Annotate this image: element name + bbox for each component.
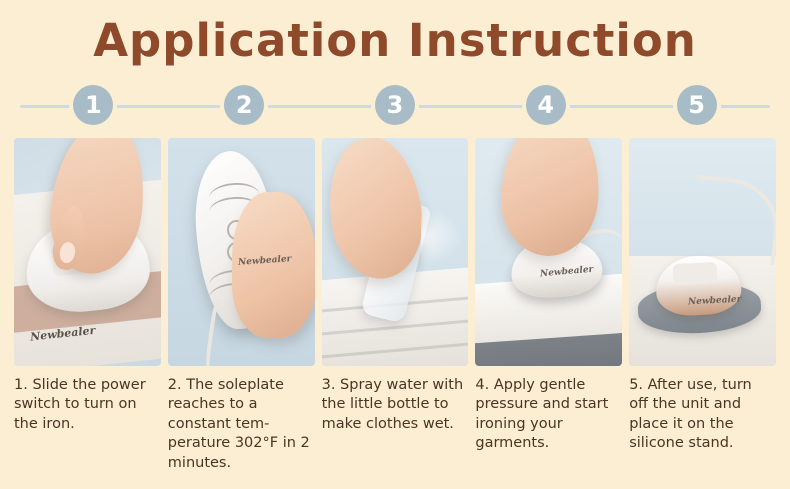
water-mist-shape <box>421 206 462 265</box>
step-photo-5: Newbealer <box>629 138 776 366</box>
step-badge-1: 1 <box>18 85 169 125</box>
page-title: Application Instruction <box>0 0 790 66</box>
step-badge-3: 3 <box>320 85 471 125</box>
step-photo-4: Newbealer <box>475 138 622 366</box>
step-photo-3 <box>322 138 469 366</box>
step-photo-1: Newbealer <box>14 138 161 366</box>
step-number-5: 5 <box>677 85 717 125</box>
instruction-page: Application Instruction 1 2 3 4 5 <box>0 0 790 489</box>
step-number-4: 4 <box>526 85 566 125</box>
step-photos-row: Newbealer Newbealer <box>14 138 776 366</box>
step-badge-5: 5 <box>621 85 772 125</box>
step-number-1: 1 <box>73 85 113 125</box>
step-caption-3: 3. Spray water with the little bottle to… <box>322 376 469 474</box>
iron-top-panel-shape <box>673 262 718 285</box>
step-number-3: 3 <box>375 85 415 125</box>
step-badge-2: 2 <box>169 85 320 125</box>
step-number-strip: 1 2 3 4 5 <box>18 82 772 128</box>
step-caption-1: 1. Slide the power switch to turn on the… <box>14 376 161 474</box>
step-caption-2: 2. The soleplate reaches to a constant t… <box>168 376 315 474</box>
step-number-2: 2 <box>224 85 264 125</box>
step-badge-4: 4 <box>470 85 621 125</box>
step-photo-2: Newbealer <box>168 138 315 366</box>
step-captions-row: 1. Slide the power switch to turn on the… <box>14 376 776 474</box>
step-caption-4: 4. Apply gentle pressure and start ironi… <box>475 376 622 474</box>
step-caption-5: 5. After use, turn off the unit and plac… <box>629 376 776 474</box>
